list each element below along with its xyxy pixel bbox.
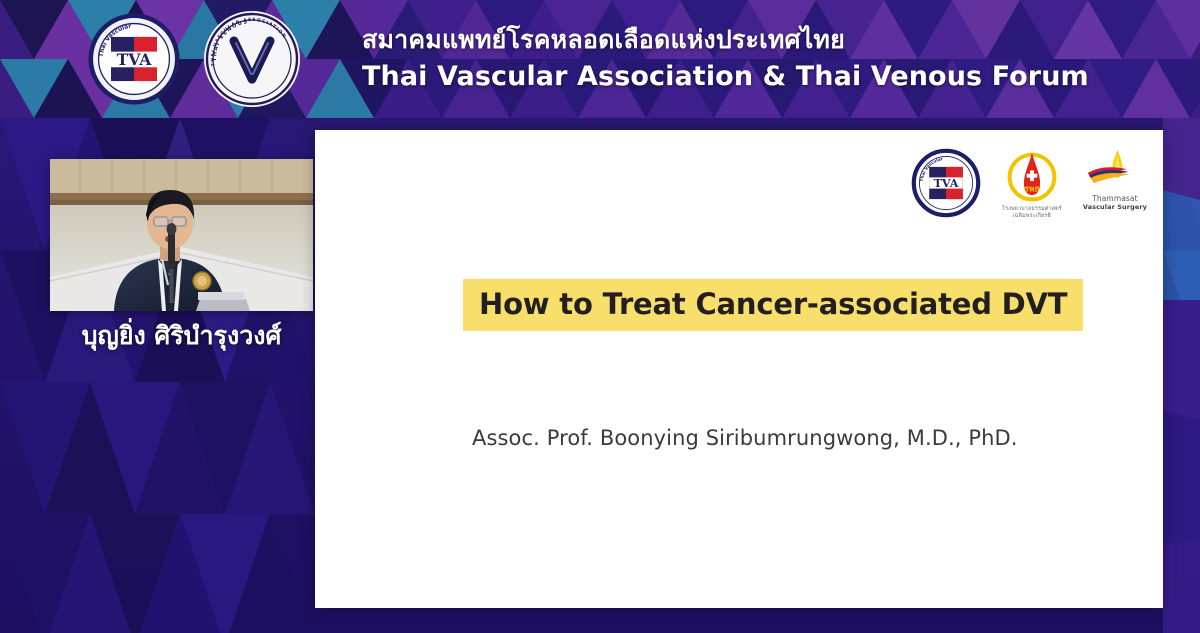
event-banner: Thai Vascular Association TVA [0, 0, 1200, 118]
slide-thammasat-logo: Thammasat Vascular Surgery [1083, 148, 1147, 212]
speaker-video-tile[interactable] [50, 159, 313, 311]
banner-title-thai: สมาคมแพทย์โรคหลอดเลือดแห่งประเทศไทย [362, 26, 1089, 54]
slide-hospital-caption: โรงพยาบาลธรรมศาสตร์เฉลิมพระเกียรติ [995, 206, 1069, 220]
tva-logo: Thai Vascular Association TVA [88, 13, 180, 105]
slide-title: How to Treat Cancer-associated DVT [479, 287, 1067, 321]
speaker-video[interactable] [50, 159, 313, 311]
slide-title-highlight: How to Treat Cancer-associated DVT [463, 279, 1083, 331]
slide-hospital-logo: รพธ โรงพยาบาลธรรมศาสตร์เฉลิมพระเกียรติ [995, 148, 1069, 220]
banner-titles: สมาคมแพทย์โรคหลอดเลือดแห่งประเทศไทย Thai… [362, 26, 1089, 92]
thammasat-name: Thammasat [1083, 194, 1147, 203]
presentation-slide: Thai Vascular Association TVA รพธ โ [315, 130, 1163, 608]
screen: Thai Vascular Association TVA [0, 0, 1200, 633]
thai-venous-forum-logo: THAI VENOUS FORUM THAI VASCULAR ASSOCIAT… [202, 9, 302, 109]
banner-logo-group: Thai Vascular Association TVA [88, 9, 302, 109]
banner-title-english: Thai Vascular Association & Thai Venous … [362, 62, 1089, 92]
svg-text:TVA: TVA [933, 176, 958, 190]
thammasat-dept: Vascular Surgery [1083, 203, 1147, 211]
slide-logo-group: Thai Vascular Association TVA รพธ โ [911, 148, 1147, 220]
slide-tva-logo: Thai Vascular Association TVA [911, 148, 981, 218]
speaker-name-label: บุญยิ่ง ศิริบำรุงวงศ์ [50, 312, 313, 356]
slide-thammasat-caption: Thammasat Vascular Surgery [1083, 194, 1147, 212]
svg-text:TVA: TVA [117, 50, 153, 69]
slide-author: Assoc. Prof. Boonying Siribumrungwong, M… [472, 426, 1018, 450]
svg-text:รพธ: รพธ [1024, 184, 1039, 194]
